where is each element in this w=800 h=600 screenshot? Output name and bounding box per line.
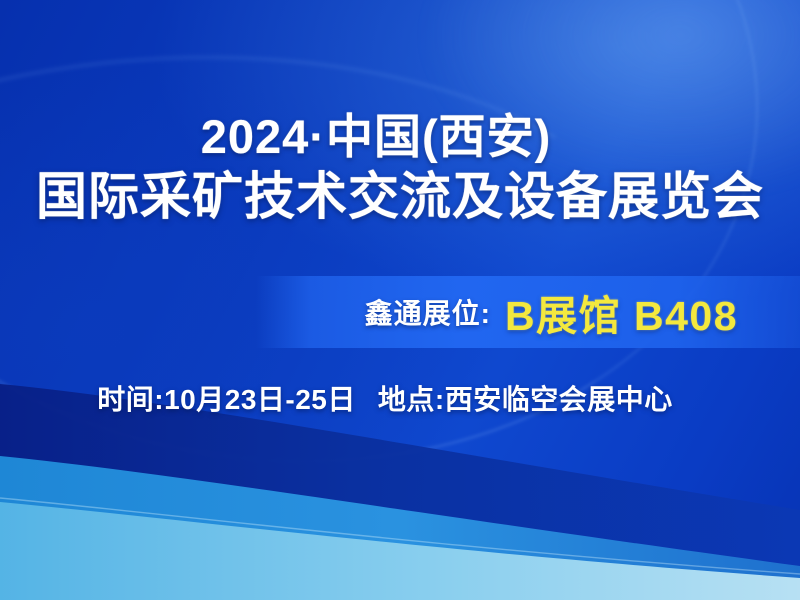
title-line-primary: 2024·中国(西安) bbox=[0, 112, 800, 163]
title-line-secondary: 国际采矿技术交流及设备展览会 bbox=[0, 169, 800, 225]
exhibition-poster: 2024·中国(西安) 国际采矿技术交流及设备展览会 鑫通展位: B展馆 B40… bbox=[0, 0, 800, 600]
poster-title-block: 2024·中国(西安) 国际采矿技术交流及设备展览会 bbox=[0, 112, 800, 225]
booth-number: B展馆 B408 bbox=[505, 282, 738, 342]
event-info-line: 时间:10月23日-25日地点:西安临空会展中心 bbox=[0, 378, 800, 418]
event-date: 时间:10月23日-25日 bbox=[97, 384, 356, 415]
event-venue: 地点:西安临空会展中心 bbox=[378, 384, 673, 415]
booth-label: 鑫通展位: bbox=[365, 292, 491, 332]
booth-info-row: 鑫通展位: B展馆 B408 bbox=[0, 276, 800, 348]
